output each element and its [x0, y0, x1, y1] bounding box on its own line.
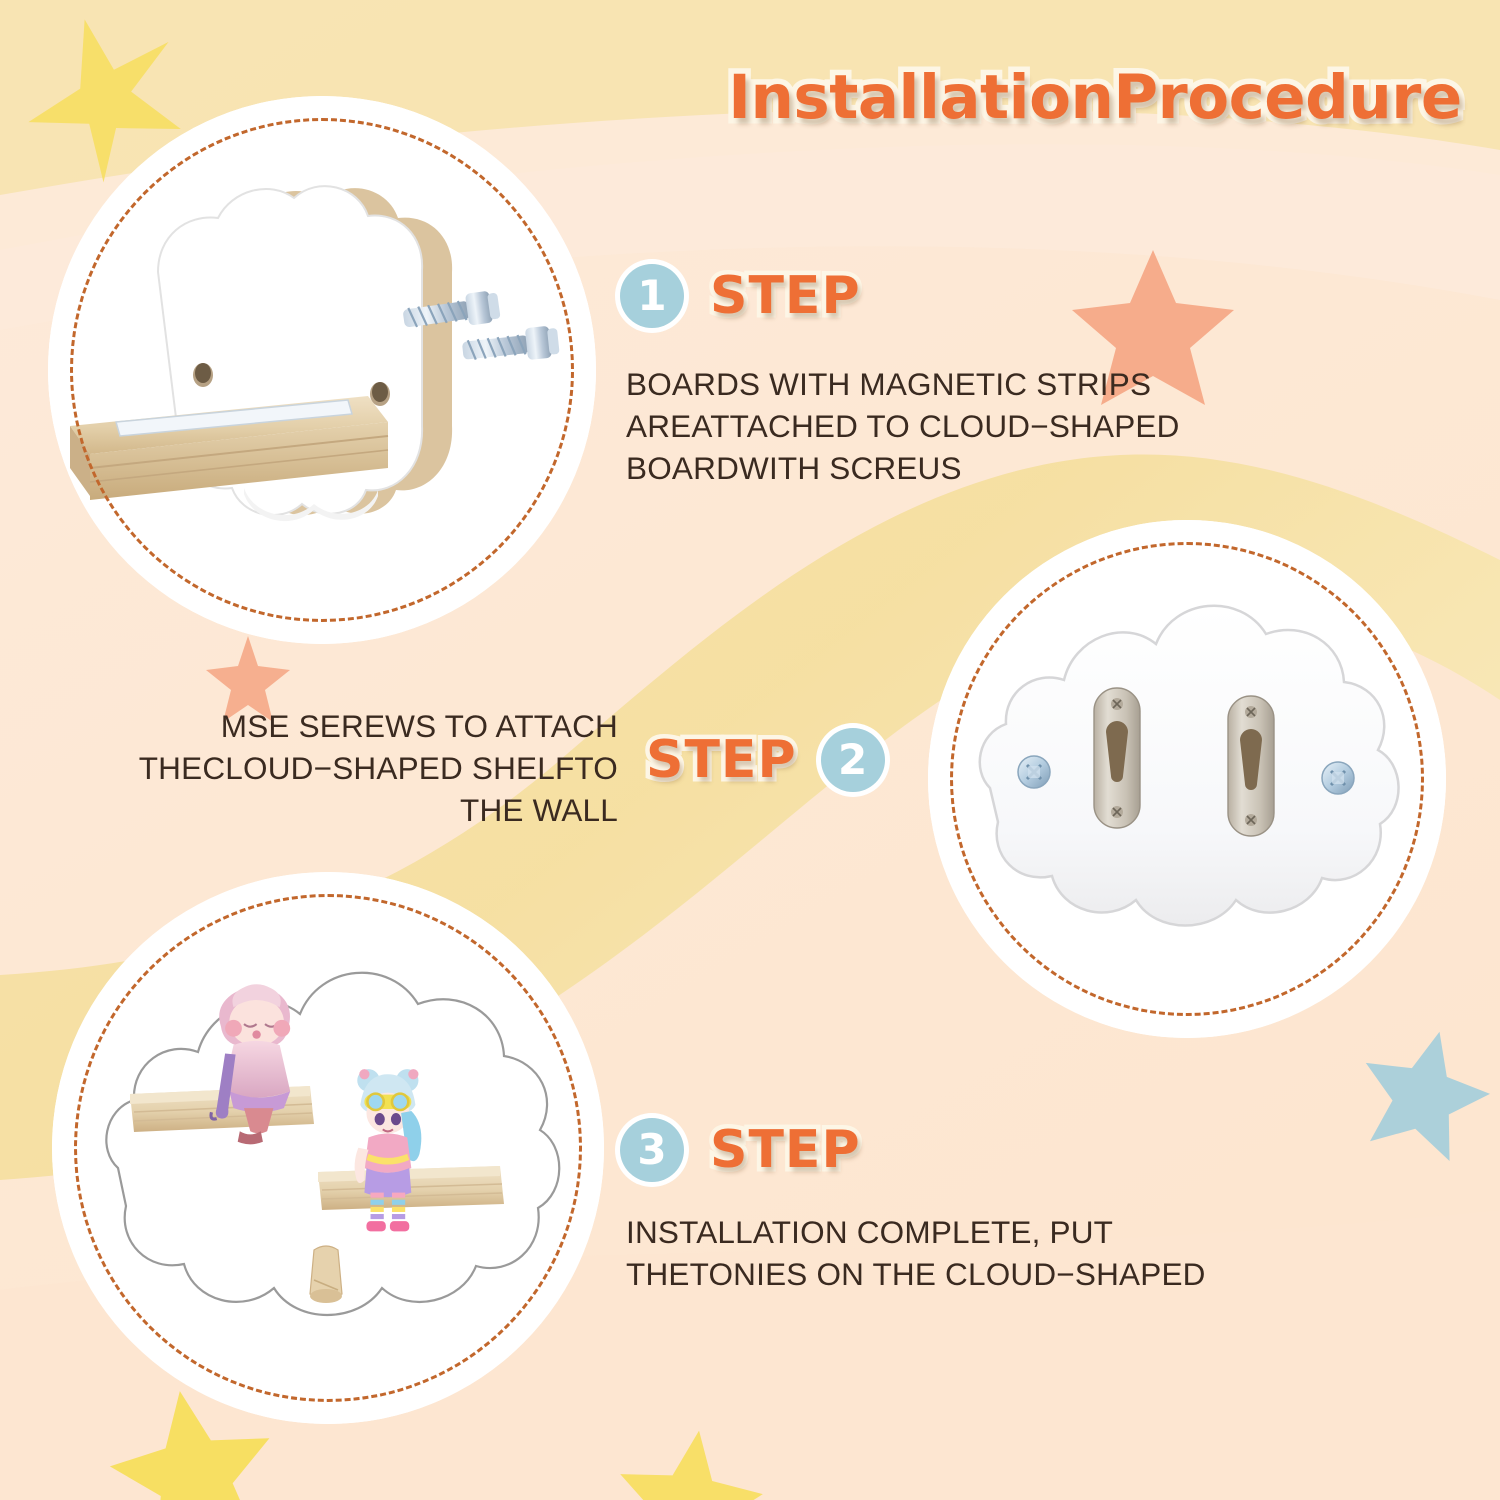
step-2-photo	[928, 520, 1446, 1038]
wooden-peg-hook	[310, 1246, 342, 1303]
step-2-photo-inner	[928, 520, 1446, 1038]
step-2-description: MSE SEREWS TO ATTACH THECLOUD−SHAPED SHE…	[88, 706, 618, 832]
screw-left	[1018, 756, 1050, 788]
step-3-badge: 3	[620, 1118, 684, 1182]
step-3-description: INSTALLATION COMPLETE, PUT THETONIES ON …	[626, 1212, 1306, 1296]
screw-right	[1322, 762, 1354, 794]
poster-root: InstallationProcedure	[0, 0, 1500, 1500]
step-2-badge: 2	[821, 728, 885, 792]
step-1-description: BOARDS WITH MAGNETIC STRIPS AREATTACHED …	[626, 364, 1266, 490]
cloud-shelf-with-screws-illustration	[48, 96, 596, 644]
step-1-photo-inner	[48, 96, 596, 644]
installed-cloud-shelf-with-toys-illustration	[52, 872, 604, 1424]
step-2-label: STEP	[646, 730, 797, 790]
shelf-bar-lower	[318, 1166, 504, 1210]
step-2-heading: STEP 2	[646, 728, 885, 792]
cloud-back-mounting-plates-illustration	[928, 520, 1446, 1038]
step-3-heading: 3 STEP	[620, 1118, 861, 1182]
step-3-photo	[52, 872, 604, 1424]
step-1-heading: 1 STEP	[620, 264, 861, 328]
step-3-label: STEP	[710, 1120, 861, 1180]
step-3-photo-inner	[52, 872, 604, 1424]
step-1-label: STEP	[710, 266, 861, 326]
page-title: InstallationProcedure	[700, 62, 1490, 133]
step-1-photo	[48, 96, 596, 644]
step-1-badge: 1	[620, 264, 684, 328]
